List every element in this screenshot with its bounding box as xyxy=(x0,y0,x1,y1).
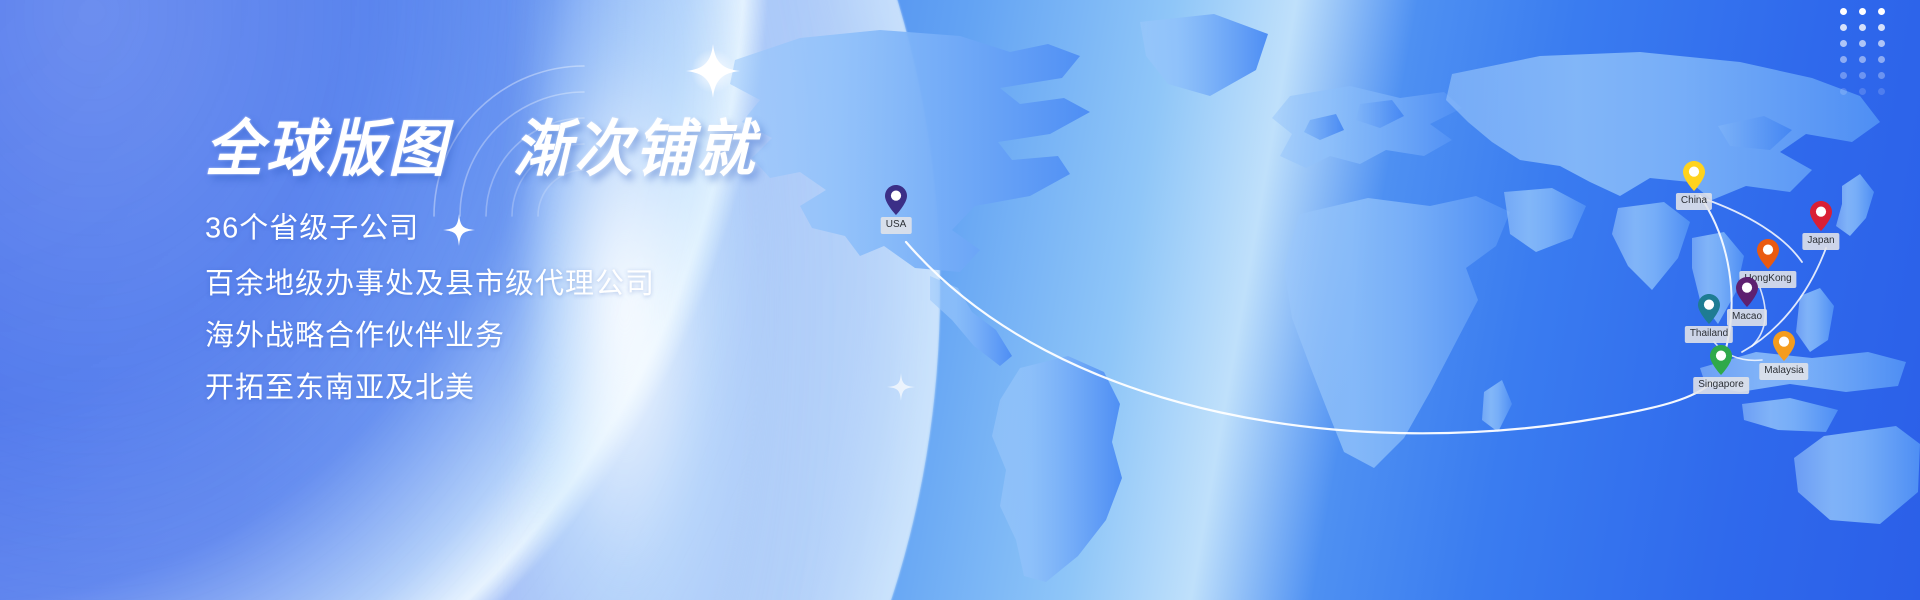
map-pin-icon xyxy=(1710,345,1732,375)
map-marker-label: Singapore xyxy=(1693,377,1749,394)
map-pin-icon xyxy=(1810,201,1832,231)
subtitle-line-2: 百余地级办事处及县市级代理公司 xyxy=(205,270,965,299)
map-marker-singapore[interactable]: Singapore xyxy=(1710,345,1732,375)
map-marker-hongkong[interactable]: HongKong xyxy=(1757,239,1779,269)
map-pin-icon xyxy=(1698,294,1720,324)
route-usa-to-singapore xyxy=(906,242,1712,433)
global-footprint-banner: 全球版图 渐次铺就 36个省级子公司 百余地级办事处及县市级代理公司 海外战略合… xyxy=(0,0,1920,600)
dot-grid xyxy=(1840,8,1898,100)
map-marker-label: Malaysia xyxy=(1759,363,1808,380)
dot-grid-row xyxy=(1840,56,1898,63)
dot-grid-row xyxy=(1840,24,1898,31)
dot-grid-row xyxy=(1840,40,1898,47)
map-marker-label: Macao xyxy=(1727,309,1767,326)
dot-grid-row xyxy=(1840,88,1898,95)
subtitle-line-1: 36个省级子公司 xyxy=(205,213,965,247)
headline-part-2: 渐次铺就 xyxy=(513,115,757,184)
map-marker-macao[interactable]: Macao xyxy=(1736,277,1758,307)
dot-grid-row xyxy=(1840,72,1898,79)
sparkle-icon-top xyxy=(682,40,744,102)
map-marker-label: USA xyxy=(881,217,912,234)
map-marker-label: Japan xyxy=(1802,233,1839,250)
dot-grid-row xyxy=(1840,8,1898,15)
page-title: 全球版图 渐次铺就 xyxy=(205,118,965,183)
map-marker-japan[interactable]: Japan xyxy=(1810,201,1832,231)
map-marker-label: Thailand xyxy=(1685,326,1733,343)
map-marker-thailand[interactable]: Thailand xyxy=(1698,294,1720,324)
map-marker-china[interactable]: China xyxy=(1683,161,1705,191)
map-pin-icon xyxy=(885,185,907,215)
map-marker-usa[interactable]: USA xyxy=(885,185,907,215)
map-pin-icon xyxy=(1757,239,1779,269)
map-marker-malaysia[interactable]: Malaysia xyxy=(1773,331,1795,361)
map-pin-icon xyxy=(1736,277,1758,307)
subtitle-line-3: 海外战略合作伙伴业务 xyxy=(205,322,965,351)
subtitle-line-4: 开拓至东南亚及北美 xyxy=(205,374,965,403)
map-marker-label: China xyxy=(1676,193,1712,210)
headline-part-1: 全球版图 xyxy=(205,115,449,184)
banner-subtitle-list: 36个省级子公司 百余地级办事处及县市级代理公司 海外战略合作伙伴业务 开拓至东… xyxy=(205,213,965,403)
banner-text-block: 全球版图 渐次铺就 36个省级子公司 百余地级办事处及县市级代理公司 海外战略合… xyxy=(205,118,965,403)
map-pin-icon xyxy=(1773,331,1795,361)
map-pin-icon xyxy=(1683,161,1705,191)
sparkle-icon-inline xyxy=(442,213,476,247)
